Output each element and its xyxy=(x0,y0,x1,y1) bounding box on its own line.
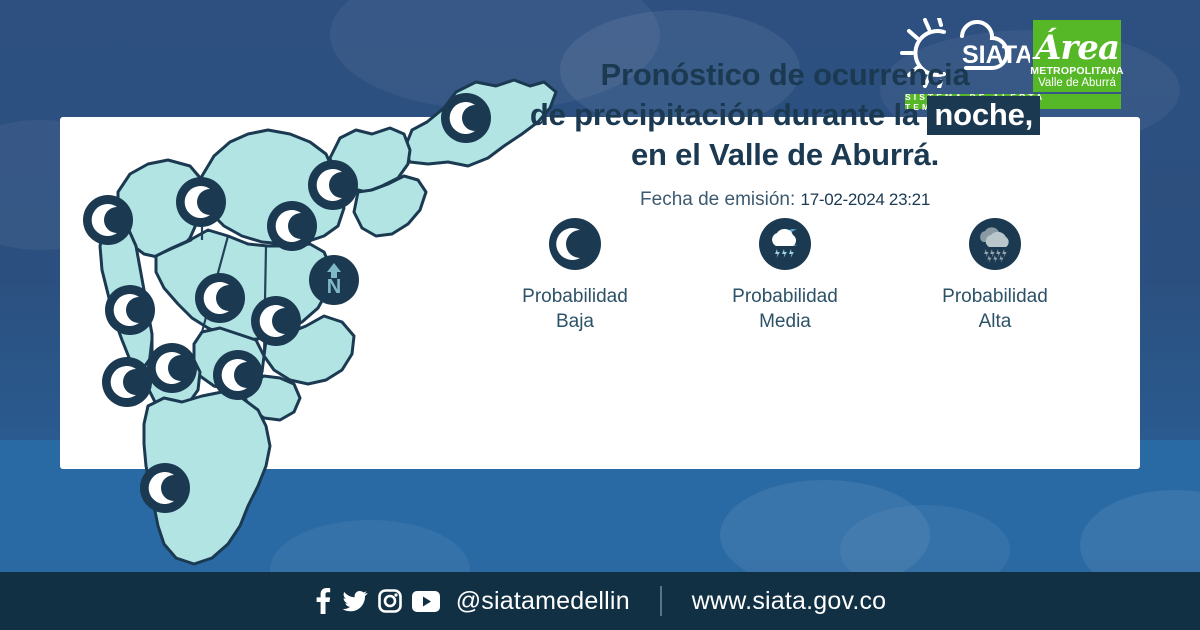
emission-date: Fecha de emisión: 17-02-2024 23:21 xyxy=(470,189,1100,211)
emission-value: 17-02-2024 23:21 xyxy=(801,190,930,209)
legend-label-baja: Probabilidad Baja xyxy=(522,284,628,334)
twitter-icon[interactable] xyxy=(342,588,368,614)
facebook-icon[interactable] xyxy=(314,587,332,615)
instagram-icon[interactable] xyxy=(378,589,402,613)
legend-item-media: Probabilidad Media xyxy=(690,218,880,334)
headline-block: Pronóstico de ocurrencia de precipitació… xyxy=(470,55,1100,211)
social-handle[interactable]: @siatamedellin xyxy=(456,587,630,616)
title-line-1: Pronóstico de ocurrencia xyxy=(470,55,1100,95)
legend-label-alta: Probabilidad Alta xyxy=(942,284,1048,334)
legend: Probabilidad Baja Probabilidad Media xyxy=(470,218,1100,334)
page-title: Pronóstico de ocurrencia de precipitació… xyxy=(470,55,1100,175)
map-marker[interactable] xyxy=(195,273,245,323)
legend-label-line1: Probabilidad xyxy=(522,284,628,309)
map-marker[interactable] xyxy=(140,463,190,513)
legend-label-media: Probabilidad Media xyxy=(732,284,838,334)
title-highlight: noche, xyxy=(927,96,1040,135)
youtube-icon[interactable] xyxy=(412,591,440,612)
legend-label-line2: Media xyxy=(732,309,838,334)
social-icons xyxy=(314,587,440,615)
infographic-root: SIATA Área METROPOLITANA Valle de Aburrá… xyxy=(0,0,1200,630)
emission-label: Fecha de emisión: xyxy=(640,189,795,210)
title-line-2-text: de precipitación durante la xyxy=(530,97,928,132)
footer-bar: @siatamedellin www.siata.gov.co xyxy=(0,572,1200,630)
title-line-2: de precipitación durante la noche, xyxy=(470,95,1100,135)
map-marker[interactable] xyxy=(213,350,263,400)
map-marker[interactable] xyxy=(267,201,317,251)
map-marker[interactable] xyxy=(105,285,155,335)
moon-icon xyxy=(549,218,601,270)
legend-item-baja: Probabilidad Baja xyxy=(480,218,670,334)
map-marker[interactable] xyxy=(308,160,358,210)
cloud-heavy-rain-icon xyxy=(969,218,1021,270)
website-url[interactable]: www.siata.gov.co xyxy=(692,587,886,616)
compass-north-label: N xyxy=(327,276,341,298)
map-marker[interactable] xyxy=(147,343,197,393)
legend-label-line1: Probabilidad xyxy=(732,284,838,309)
legend-label-line1: Probabilidad xyxy=(942,284,1048,309)
map-marker[interactable] xyxy=(102,357,152,407)
footer-divider xyxy=(660,586,662,616)
legend-label-line2: Baja xyxy=(522,309,628,334)
map-marker[interactable] xyxy=(176,177,226,227)
compass-rose: N xyxy=(309,255,359,305)
cloud-moon-rain-icon xyxy=(759,218,811,270)
title-line-3: en el Valle de Aburrá. xyxy=(470,135,1100,175)
legend-item-alta: Probabilidad Alta xyxy=(900,218,1090,334)
legend-label-line2: Alta xyxy=(942,309,1048,334)
map-marker[interactable] xyxy=(83,195,133,245)
map-marker[interactable] xyxy=(251,296,301,346)
